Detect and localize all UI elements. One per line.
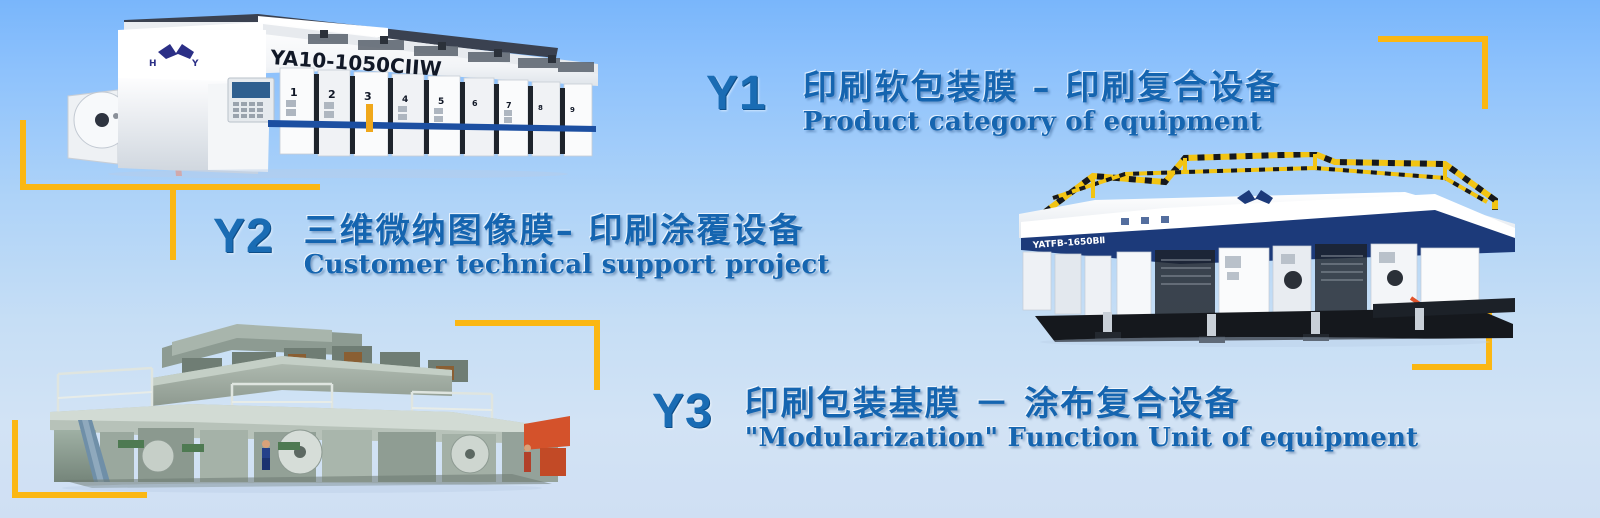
machine-photo-coating-laminating-machine: YATFB-1650BⅡ bbox=[975, 152, 1515, 352]
svg-text:4: 4 bbox=[402, 95, 408, 105]
bracket-frame-top-right bbox=[1378, 36, 1488, 109]
heading-en-y3: "Modularization" Function Unit of equipm… bbox=[745, 424, 1419, 454]
svg-text:6: 6 bbox=[472, 99, 478, 108]
heading-en-y2: Customer technical support project bbox=[304, 251, 830, 281]
heading-cn-y3: 印刷包装基膜 － 涂布复合设备 bbox=[745, 384, 1419, 424]
heading-code-y1: Y1 bbox=[706, 70, 767, 118]
svg-text:2: 2 bbox=[328, 88, 336, 101]
heading-en-y1: Product category of equipment bbox=[803, 108, 1282, 138]
svg-text:9: 9 bbox=[570, 106, 575, 114]
svg-text:5: 5 bbox=[438, 97, 444, 107]
svg-text:H: H bbox=[149, 59, 157, 69]
promo-banner: H Y bbox=[0, 0, 1600, 518]
machine-photo-rotogravure-printing-press: H Y bbox=[58, 8, 598, 178]
heading-cn-y1: 印刷软包装膜 – 印刷复合设备 bbox=[803, 68, 1282, 108]
svg-text:7: 7 bbox=[506, 101, 512, 110]
svg-text:1: 1 bbox=[290, 86, 298, 99]
svg-text:Y: Y bbox=[191, 59, 199, 69]
heading-row-y3: Y3 印刷包装基膜 － 涂布复合设备 "Modularization" Func… bbox=[652, 388, 1418, 454]
machine-photo-base-film-coating-line bbox=[32, 312, 572, 494]
svg-text:3: 3 bbox=[364, 90, 372, 103]
heading-code-y3: Y3 bbox=[652, 388, 713, 436]
svg-text:8: 8 bbox=[538, 104, 543, 112]
heading-row-y1: Y1 印刷软包装膜 – 印刷复合设备 Product category of e… bbox=[706, 70, 1281, 138]
heading-row-y2: Y2 三维微纳图像膜– 印刷涂覆设备 Customer technical su… bbox=[213, 213, 830, 281]
heading-code-y2: Y2 bbox=[213, 213, 274, 261]
heading-cn-y2: 三维微纳图像膜– 印刷涂覆设备 bbox=[304, 211, 830, 251]
